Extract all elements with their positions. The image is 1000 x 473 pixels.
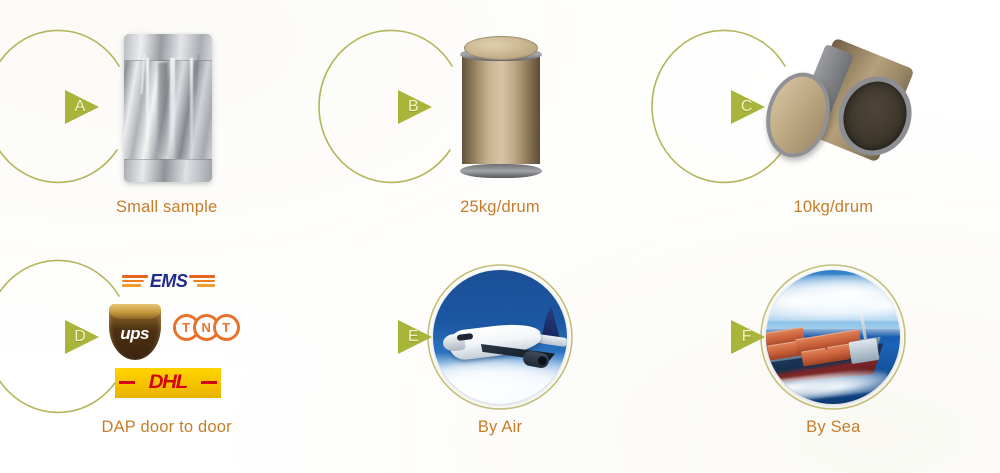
badge-arrow-d[interactable]: D xyxy=(63,314,107,360)
caption-b: 25kg/drum xyxy=(333,198,666,217)
ems-stripes-right xyxy=(189,273,215,289)
badge-letter-f: F xyxy=(729,314,773,360)
ups-logo-text: ups xyxy=(109,324,161,344)
badge-arrow-b[interactable]: B xyxy=(396,84,440,130)
caption-a: Small sample xyxy=(0,198,333,217)
badge-letter-e: E xyxy=(396,314,440,360)
dhl-logo-icon[interactable]: DHL xyxy=(115,368,221,398)
badge-letter-a: A xyxy=(63,84,107,130)
media-d: EMS ups T N T xyxy=(77,252,257,422)
badge-letter-b: B xyxy=(396,84,440,130)
badge-arrow-f[interactable]: F xyxy=(729,314,773,360)
media-f: F xyxy=(743,252,923,422)
ups-logo-icon[interactable]: ups xyxy=(109,304,161,360)
badge-letter-d: D xyxy=(63,314,107,360)
badge-arrow-c[interactable]: C xyxy=(729,84,773,130)
cell-b-25kg-drum[interactable]: B 25kg/drum xyxy=(333,0,666,240)
cargo-plane-photo xyxy=(433,270,567,404)
tnt-letter-3: T xyxy=(213,314,240,341)
ems-logo-icon[interactable]: EMS xyxy=(117,268,221,294)
badge-arrow-e[interactable]: E xyxy=(396,314,440,360)
badge-arrow-a[interactable]: A xyxy=(63,84,107,130)
ship-icon xyxy=(766,322,900,400)
cell-f-by-sea[interactable]: F By Sea xyxy=(667,240,1000,473)
media-a: A xyxy=(77,22,257,192)
caption-d: DAP door to door xyxy=(0,418,333,437)
media-b: B xyxy=(410,22,590,192)
cell-e-by-air[interactable]: E By Air xyxy=(333,240,666,473)
packaging-shipping-grid: A Small sample xyxy=(0,0,1000,473)
media-c: C xyxy=(743,22,923,192)
cell-c-10kg-drum[interactable]: C 10kg/drum xyxy=(667,0,1000,240)
cell-d-dap-door-to-door[interactable]: EMS ups T N T xyxy=(0,240,333,473)
caption-f: By Sea xyxy=(667,418,1000,437)
ems-stripes-left xyxy=(122,273,148,289)
caption-e: By Air xyxy=(333,418,666,437)
tnt-logo-icon[interactable]: T N T xyxy=(173,314,245,348)
ems-logo-text: EMS xyxy=(148,271,190,292)
cell-a-small-sample[interactable]: A Small sample xyxy=(0,0,333,240)
caption-c: 10kg/drum xyxy=(667,198,1000,217)
badge-letter-c: C xyxy=(729,84,773,130)
dhl-logo-text: DHL xyxy=(149,372,187,394)
container-ship-photo xyxy=(766,270,900,404)
airplane-icon xyxy=(439,310,567,372)
media-e: E xyxy=(410,252,590,422)
